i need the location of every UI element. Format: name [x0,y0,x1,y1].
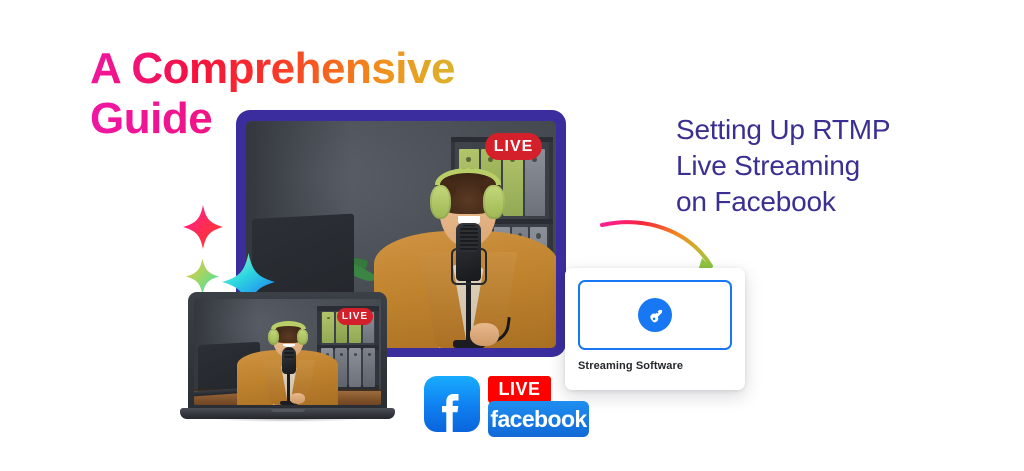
streamer-person [370,139,556,348]
streaming-software-label: Streaming Software [578,360,732,372]
subtitle-line-2: Live Streaming [676,148,1006,184]
facebook-logo-cluster: LIVE facebook [424,376,589,438]
facebook-wordmark[interactable]: facebook [488,401,589,437]
poster-canvas: A Comprehensive Guide Setting Up RTMP Li… [0,0,1024,471]
streamer-person [235,307,340,405]
subtitle-line-1: Setting Up RTMP [676,112,1006,148]
binder [363,348,375,387]
headphone-band [271,321,307,329]
microphone-mesh [284,347,293,360]
sparkle-yellow-green-icon [186,258,219,295]
binder [349,348,361,387]
headphone-band [435,168,500,185]
page-title-line-1: A Comprehensive [90,44,560,94]
streaming-software-tile[interactable] [578,280,732,350]
headphone-cup-right [483,185,504,218]
stream-key-icon [638,298,672,332]
laptop-mockup: LIVE [180,292,395,432]
facebook-live-badge: LIVE [488,376,551,403]
hand [290,393,306,404]
live-badge: LIVE [485,133,542,160]
laptop-notch [271,409,305,412]
microphone-mesh [460,225,477,252]
laptop-screen: LIVE [194,299,381,405]
live-badge-laptop: LIVE [337,308,373,325]
sparkle-pink-icon [183,205,223,249]
facebook-icon[interactable] [424,376,480,432]
headphone-cup-right [297,329,309,345]
streaming-software-card[interactable]: Streaming Software [565,268,745,390]
laptop-lid: LIVE [188,292,387,411]
headphone-cup-left [268,329,280,345]
headphone-cup-left [430,185,451,218]
hand [470,323,499,346]
laptop-shadow [186,419,389,426]
